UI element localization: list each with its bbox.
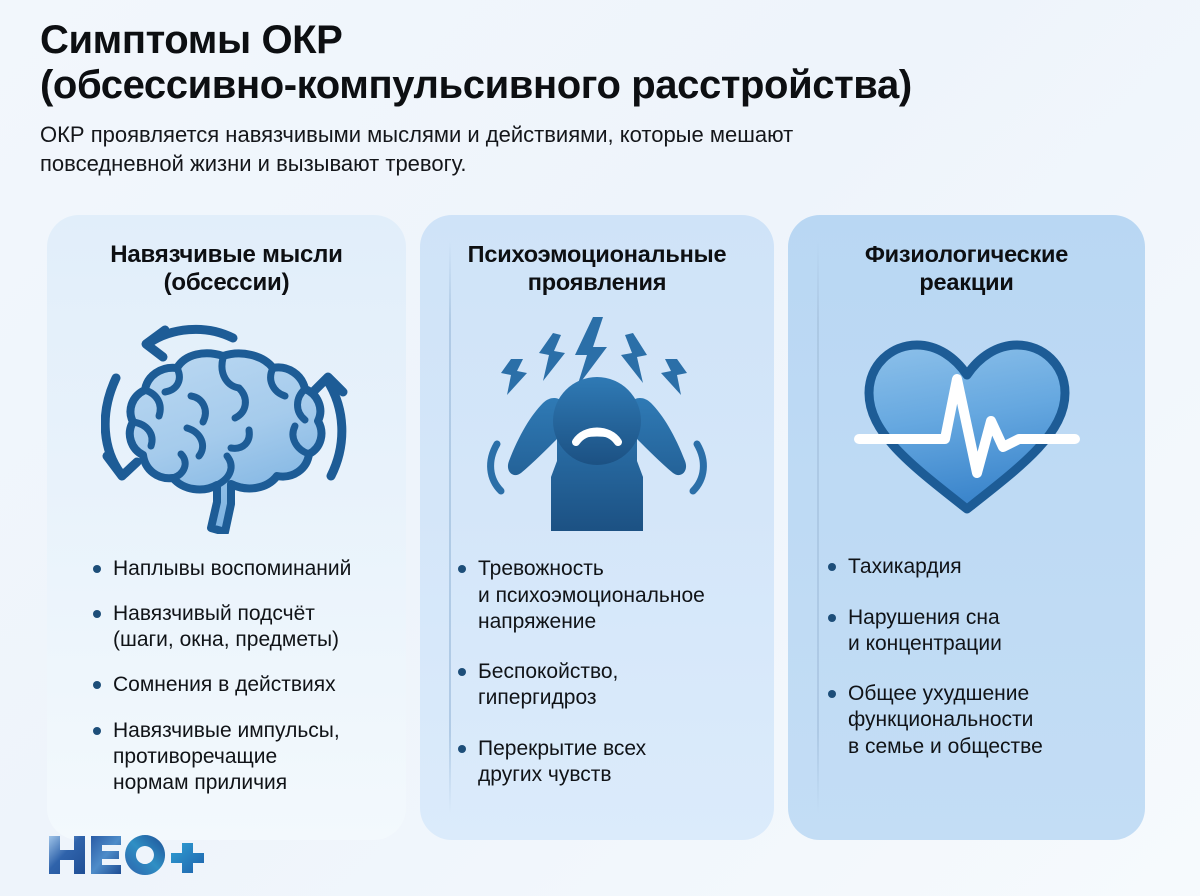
stressed-person-icon [442,298,752,548]
infographic-page: Симптомы ОКР (обсессивно-компульсивного … [0,0,1200,896]
card-title: Физиологические реакции [810,241,1123,296]
card-divider [817,241,819,813]
header: Симптомы ОКР (обсессивно-компульсивного … [40,18,1170,178]
brain-cycle-icon [69,300,384,550]
symptom-cards-row: Навязчивые мысли (обсессии) [47,215,1159,840]
card-divider [449,241,451,813]
card-psychoemotional: Психоэмоциональные проявления [420,215,774,840]
page-title: Симптомы ОКР (обсессивно-компульсивного … [40,18,1170,108]
list-item: Беспокойство, гипергидроз [454,659,752,712]
list-item: Нарушения сна и концентрации [824,605,1123,658]
list-item: Общее ухудшение функциональности в семье… [824,681,1123,760]
list-item: Перекрытие всех других чувств [454,736,752,789]
page-subtitle: ОКР проявляется навязчивыми мыслями и де… [40,120,1090,179]
brand-logo: НЕО+ [47,832,207,878]
symptom-list: Тревожность и психоэмоциональное напряже… [454,556,752,812]
list-item: Тревожность и психоэмоциональное напряже… [454,556,752,635]
card-title: Психоэмоциональные проявления [442,241,752,296]
list-item: Сомнения в действиях [89,672,384,698]
symptom-list: Наплывы воспоминаний Навязчивый подсчёт … [89,556,384,797]
card-obsessive-thoughts: Навязчивые мысли (обсессии) [47,215,406,840]
list-item: Навязчивые импульсы, противоречащие норм… [89,718,384,797]
list-item: Навязчивый подсчёт (шаги, окна, предметы… [89,601,384,654]
card-physiological: Физиологические реакции Т [788,215,1145,840]
list-item: Тахикардия [824,554,1123,580]
heart-pulse-icon [810,298,1123,548]
card-title: Навязчивые мысли (обсессии) [69,241,384,298]
list-item: Наплывы воспоминаний [89,556,384,582]
symptom-list: Тахикардия Нарушения сна и концентрации … [824,554,1123,784]
